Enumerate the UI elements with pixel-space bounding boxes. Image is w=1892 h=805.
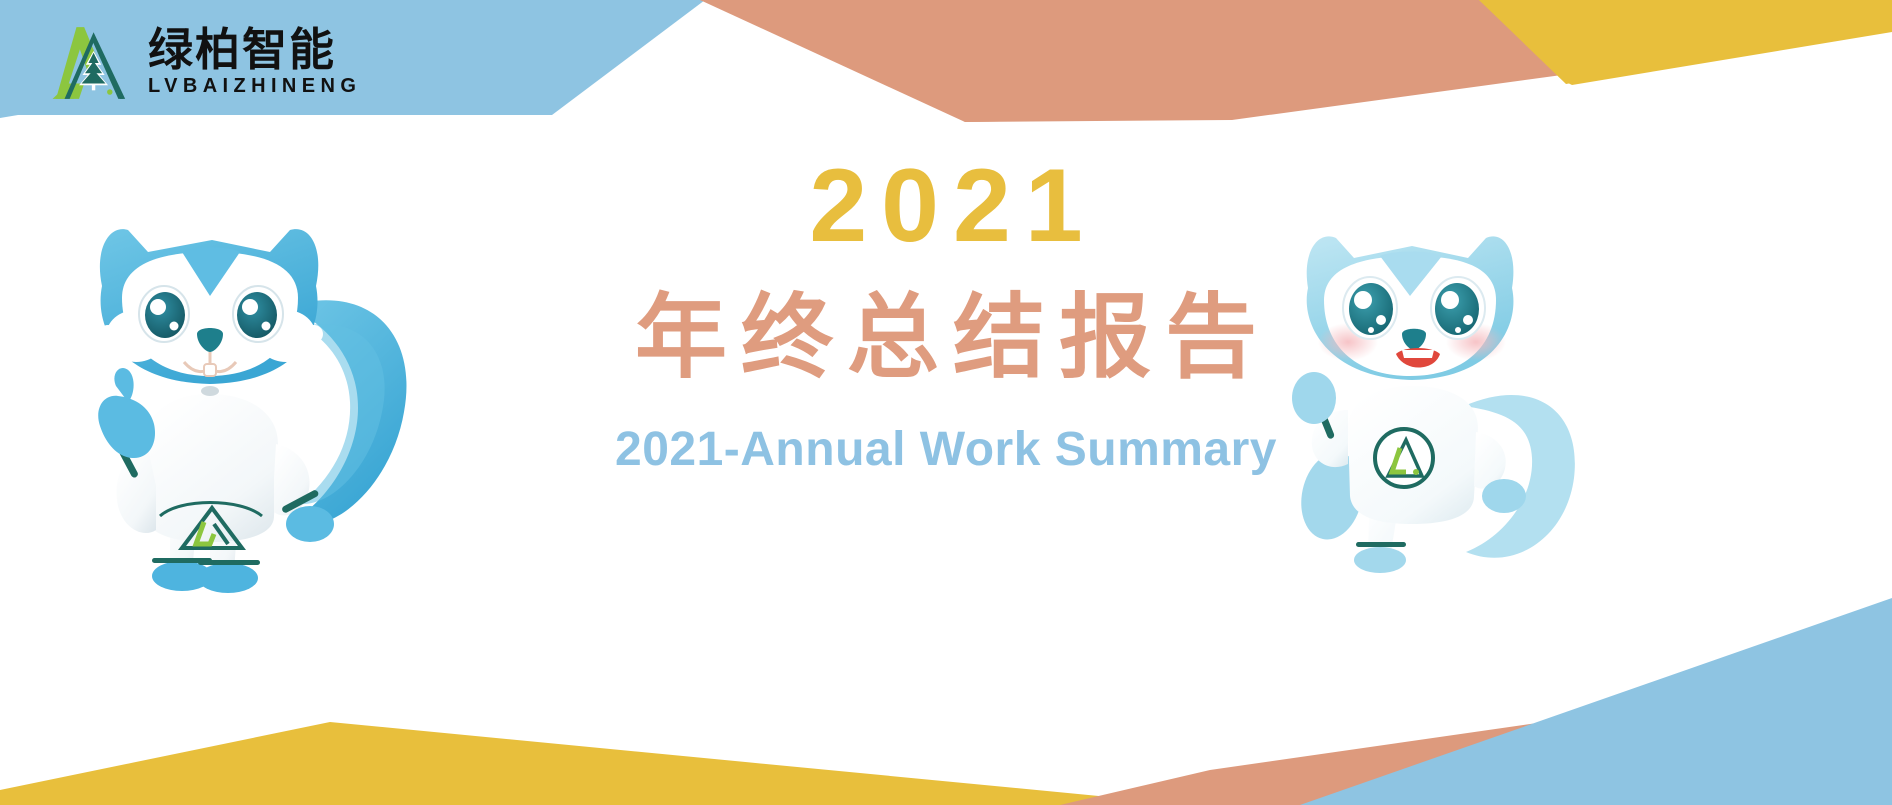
- hero-text-block: 2021 年终总结报告 2021-Annual Work Summary: [0, 150, 1892, 478]
- brand-logo[interactable]: 绿柏智能 LVBAIZHINENG: [48, 22, 361, 104]
- hero-subtitle-en: 2021-Annual Work Summary: [0, 421, 1892, 479]
- annual-report-banner: 绿柏智能 LVBAIZHINENG: [0, 0, 1892, 805]
- triangle-pine-tree-logo-icon: [48, 22, 134, 104]
- hero-title-cn: 年终总结报告: [14, 284, 1892, 393]
- logo-wordmark: 绿柏智能 LVBAIZHINENG: [148, 27, 361, 100]
- hero-year: 2021: [14, 150, 1892, 262]
- logo-name-cn: 绿柏智能: [148, 27, 361, 73]
- logo-name-en: LVBAIZHINENG: [148, 74, 361, 99]
